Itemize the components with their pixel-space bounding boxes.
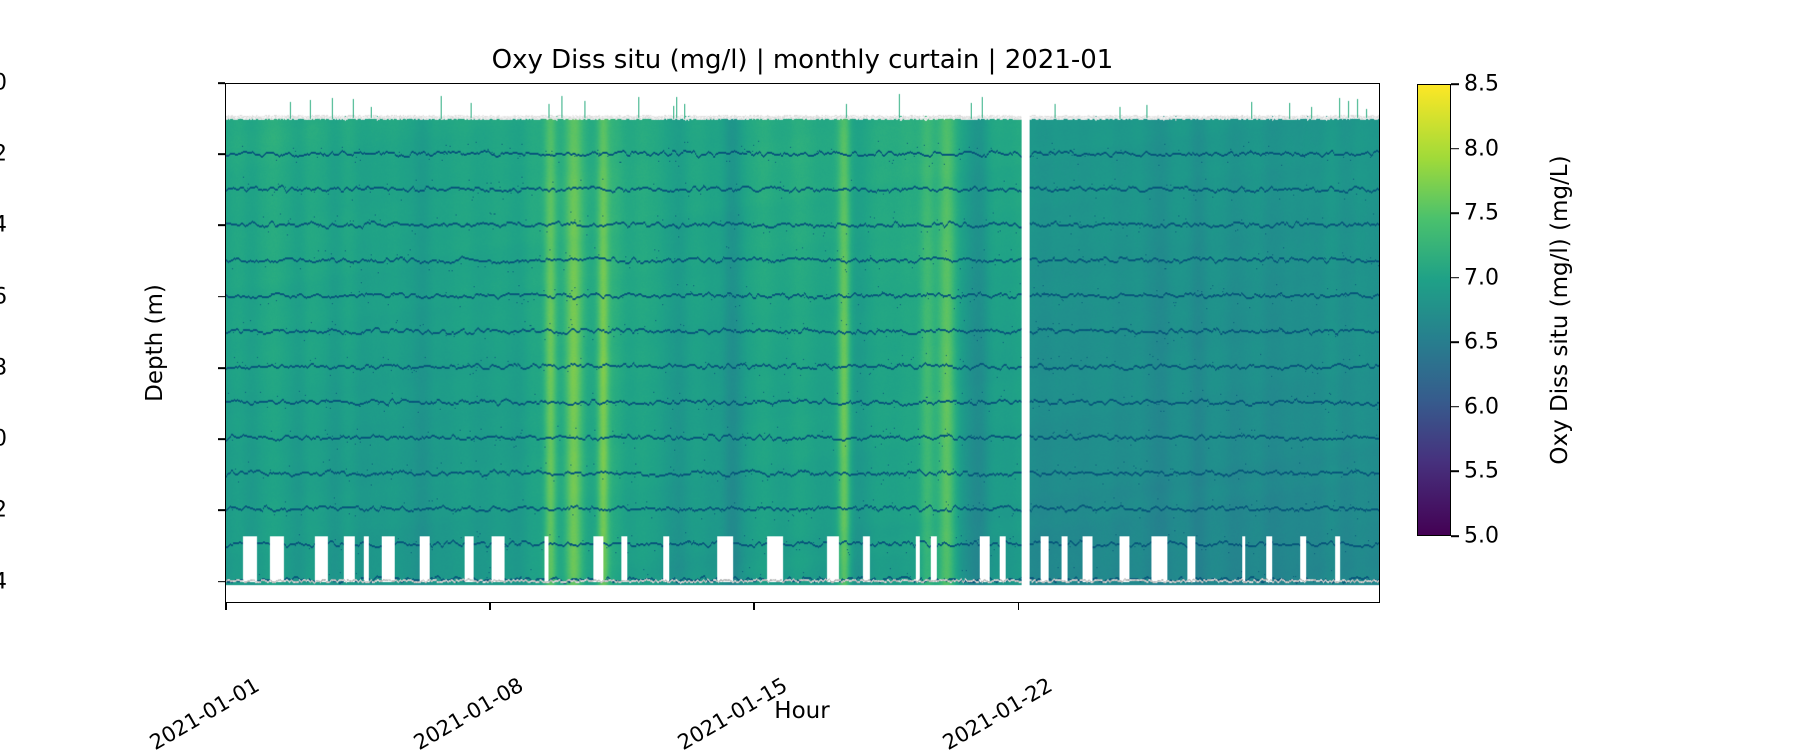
colorbar-tick-mark [1451, 277, 1459, 279]
colorbar-label: Oxy Diss situ (mg/l) (mg/L) [1547, 155, 1573, 464]
x-tick-mark [1018, 603, 1020, 610]
colorbar-tick-label: 7.5 [1464, 201, 1499, 226]
y-tick-label: 12 [0, 498, 7, 523]
y-tick-mark [218, 510, 225, 512]
y-tick-label: 0 [0, 71, 7, 96]
x-tick-mark [753, 603, 755, 610]
y-tick-label: 10 [0, 427, 7, 452]
y-tick-label: 2 [0, 142, 7, 167]
colorbar-tick-mark [1451, 471, 1459, 473]
y-tick-mark [218, 225, 225, 227]
colorbar-tick-mark [1451, 83, 1459, 85]
colorbar-tick-label: 6.0 [1464, 394, 1499, 419]
colorbar-tick-mark [1451, 535, 1459, 537]
colorbar: 5.05.56.06.57.07.58.08.5 [1417, 84, 1451, 536]
figure-canvas: Oxy Diss situ (mg/l) | monthly curtain |… [0, 0, 1800, 750]
colorbar-tick-label: 6.5 [1464, 330, 1499, 355]
y-tick-mark [218, 367, 225, 369]
y-axis-label: Depth (m) [142, 284, 168, 402]
colorbar-tick-label: 5.5 [1464, 459, 1499, 484]
colorbar-tick-mark [1451, 341, 1459, 343]
y-tick-mark [218, 438, 225, 440]
page-title: Oxy Diss situ (mg/l) | monthly curtain |… [225, 45, 1380, 75]
colorbar-tick-mark [1451, 406, 1459, 408]
y-tick-mark [218, 581, 225, 583]
x-tick-mark [489, 603, 491, 610]
colorbar-tick-mark [1451, 212, 1459, 214]
y-tick-label: 6 [0, 284, 7, 309]
heatmap-plot-area [225, 83, 1380, 603]
x-tick-label: 2021-01-01 [146, 673, 264, 755]
y-tick-label: 8 [0, 355, 7, 380]
colorbar-tick-mark [1451, 148, 1459, 150]
y-tick-label: 14 [0, 569, 7, 594]
x-axis-label: Hour [774, 698, 829, 724]
colorbar-gradient [1417, 84, 1451, 536]
y-tick-label: 4 [0, 213, 7, 238]
y-tick-mark [218, 82, 225, 84]
heatmap-image [226, 84, 1379, 602]
colorbar-tick-label: 8.0 [1464, 136, 1499, 161]
x-tick-label: 2021-01-22 [938, 673, 1056, 755]
colorbar-tick-label: 8.5 [1464, 72, 1499, 97]
y-tick-mark [218, 296, 225, 298]
heatmap-canvas [226, 84, 1379, 602]
y-tick-mark [218, 153, 225, 155]
colorbar-tick-label: 7.0 [1464, 265, 1499, 290]
colorbar-tick-label: 5.0 [1464, 524, 1499, 549]
x-tick-label: 2021-01-08 [410, 673, 528, 755]
x-tick-mark [225, 603, 227, 610]
